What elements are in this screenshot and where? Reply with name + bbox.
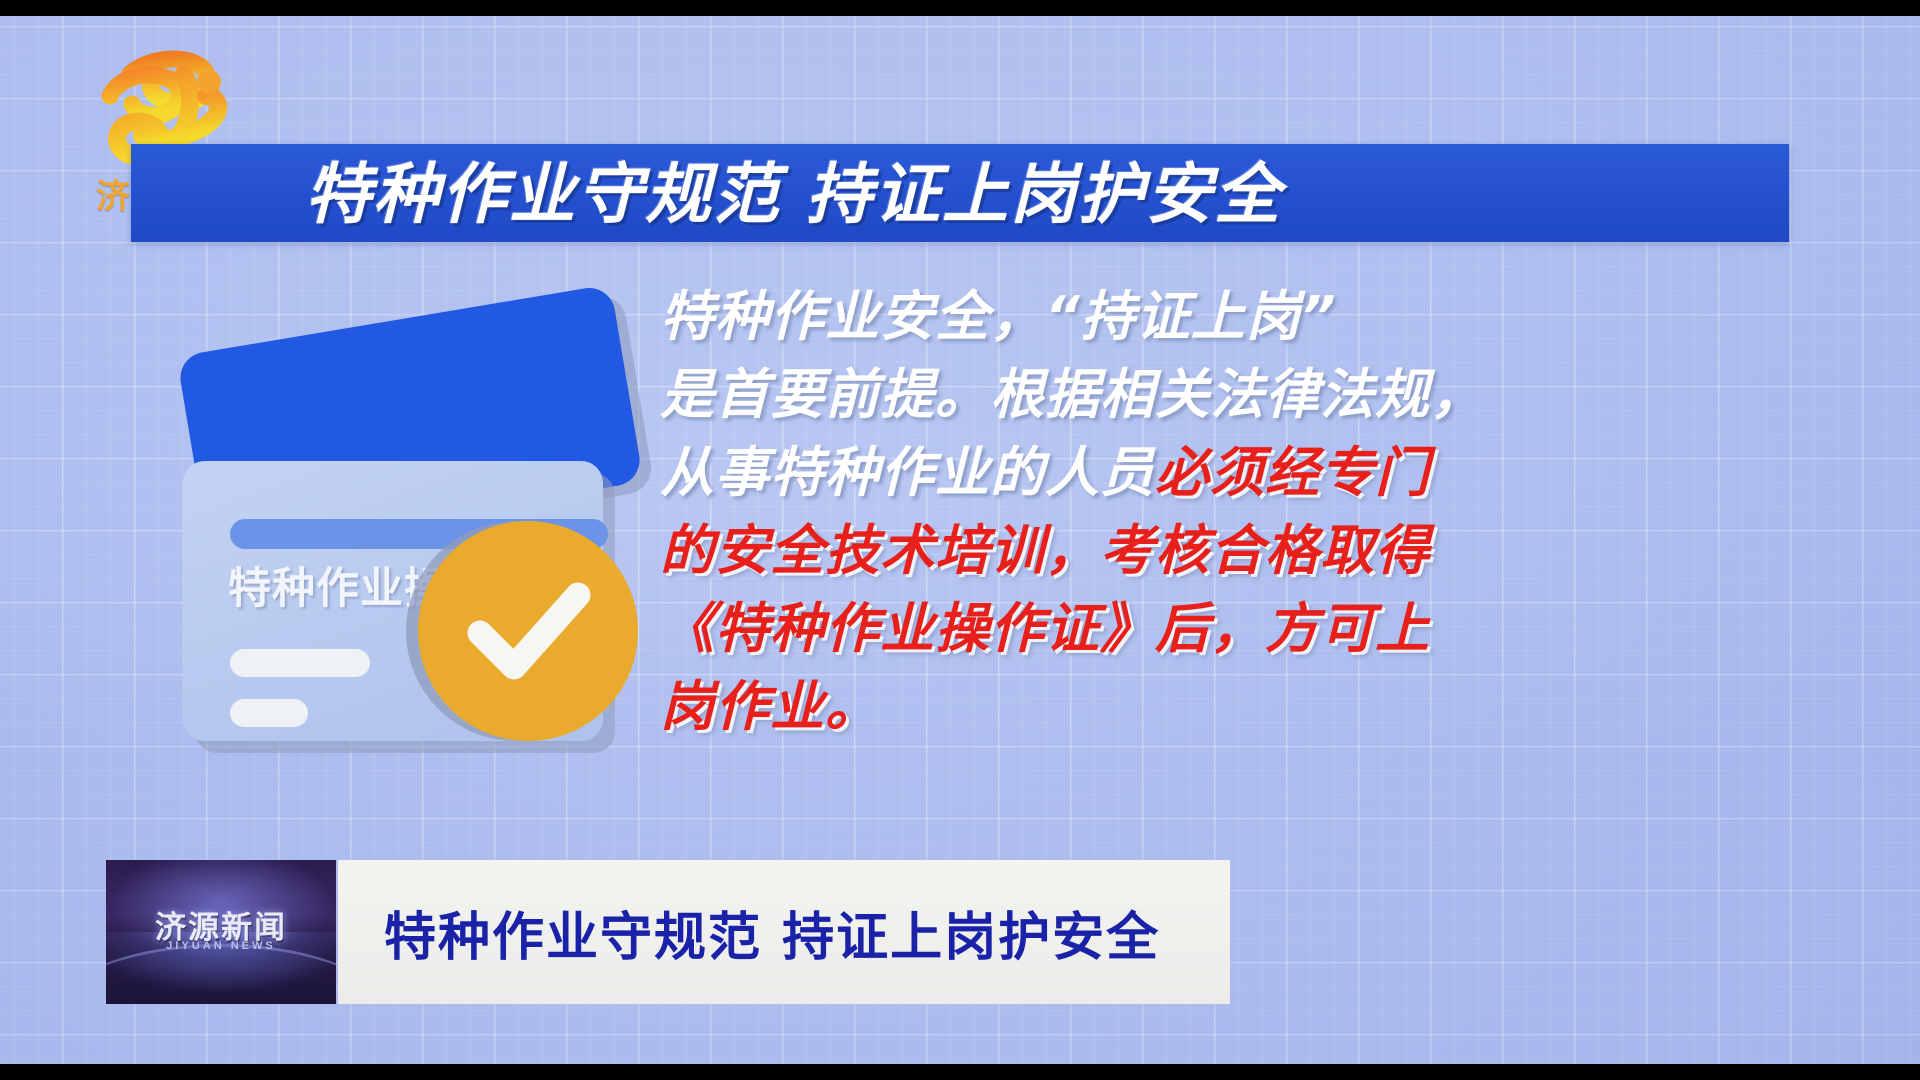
letterbox-bottom <box>0 1064 1920 1080</box>
certificate-placeholder-line-1 <box>230 649 370 677</box>
lower-third-title: 特种作业守规范 持证上岗护安全 <box>384 860 1160 1004</box>
body-text-segment-white: 从事特种作业的人员 <box>660 441 1155 504</box>
letterbox-top <box>0 0 1920 16</box>
body-text-segment-white: 特种作业安全，“持证上岗” <box>660 285 1337 348</box>
body-text-block: 特种作业安全，“持证上岗”是首要前提。根据相关法律法规，从事特种作业的人员必须经… <box>660 278 1820 746</box>
body-text-line: 是首要前提。根据相关法律法规， <box>660 356 1820 434</box>
certificate-placeholder-line-2 <box>230 699 308 727</box>
body-text-line: 岗作业。 <box>660 668 1820 746</box>
news-program-thumbnail: 济源新闻 JIYUAN NEWS <box>106 860 336 1004</box>
checkmark-icon <box>418 521 638 741</box>
certificate-illustration: 特种作业操作证 <box>150 311 710 741</box>
lower-third: 济源新闻 JIYUAN NEWS 特种作业守规范 持证上岗护安全 <box>106 858 1230 1006</box>
body-text-segment-red: 的安全技术培训，考核合格取得 <box>660 519 1430 582</box>
body-text-line: 从事特种作业的人员必须经专门 <box>660 434 1820 512</box>
body-text-line: 特种作业安全，“持证上岗” <box>660 278 1820 356</box>
body-text-line: 的安全技术培训，考核合格取得 <box>660 512 1820 590</box>
broadcast-screenshot: 济源-1 特种作业守规范 持证上岗护安全 特种作业操作证 特种作业安全，“持证上… <box>0 0 1920 1080</box>
body-text-line: 《特种作业操作证》后，方可上 <box>660 590 1820 668</box>
body-text-segment-white: 是首要前提。根据相关法律法规， <box>660 363 1485 426</box>
verified-badge <box>418 521 638 741</box>
body-text-segment-red: 必须经专门 <box>1155 441 1430 504</box>
headline-text: 特种作业守规范 持证上岗护安全 <box>305 149 1282 241</box>
body-text-segment-red: 岗作业。 <box>660 675 880 738</box>
lower-third-strip: 特种作业守规范 持证上岗护安全 <box>338 860 1230 1004</box>
video-frame: 济源-1 特种作业守规范 持证上岗护安全 特种作业操作证 特种作业安全，“持证上… <box>0 16 1920 1064</box>
headline-bar: 特种作业守规范 持证上岗护安全 <box>131 144 1789 242</box>
thumbnail-globe-arc <box>106 944 336 1004</box>
thumbnail-title-en: JIYUAN NEWS <box>106 940 336 952</box>
body-text-segment-red: 《特种作业操作证》后，方可上 <box>660 597 1430 660</box>
